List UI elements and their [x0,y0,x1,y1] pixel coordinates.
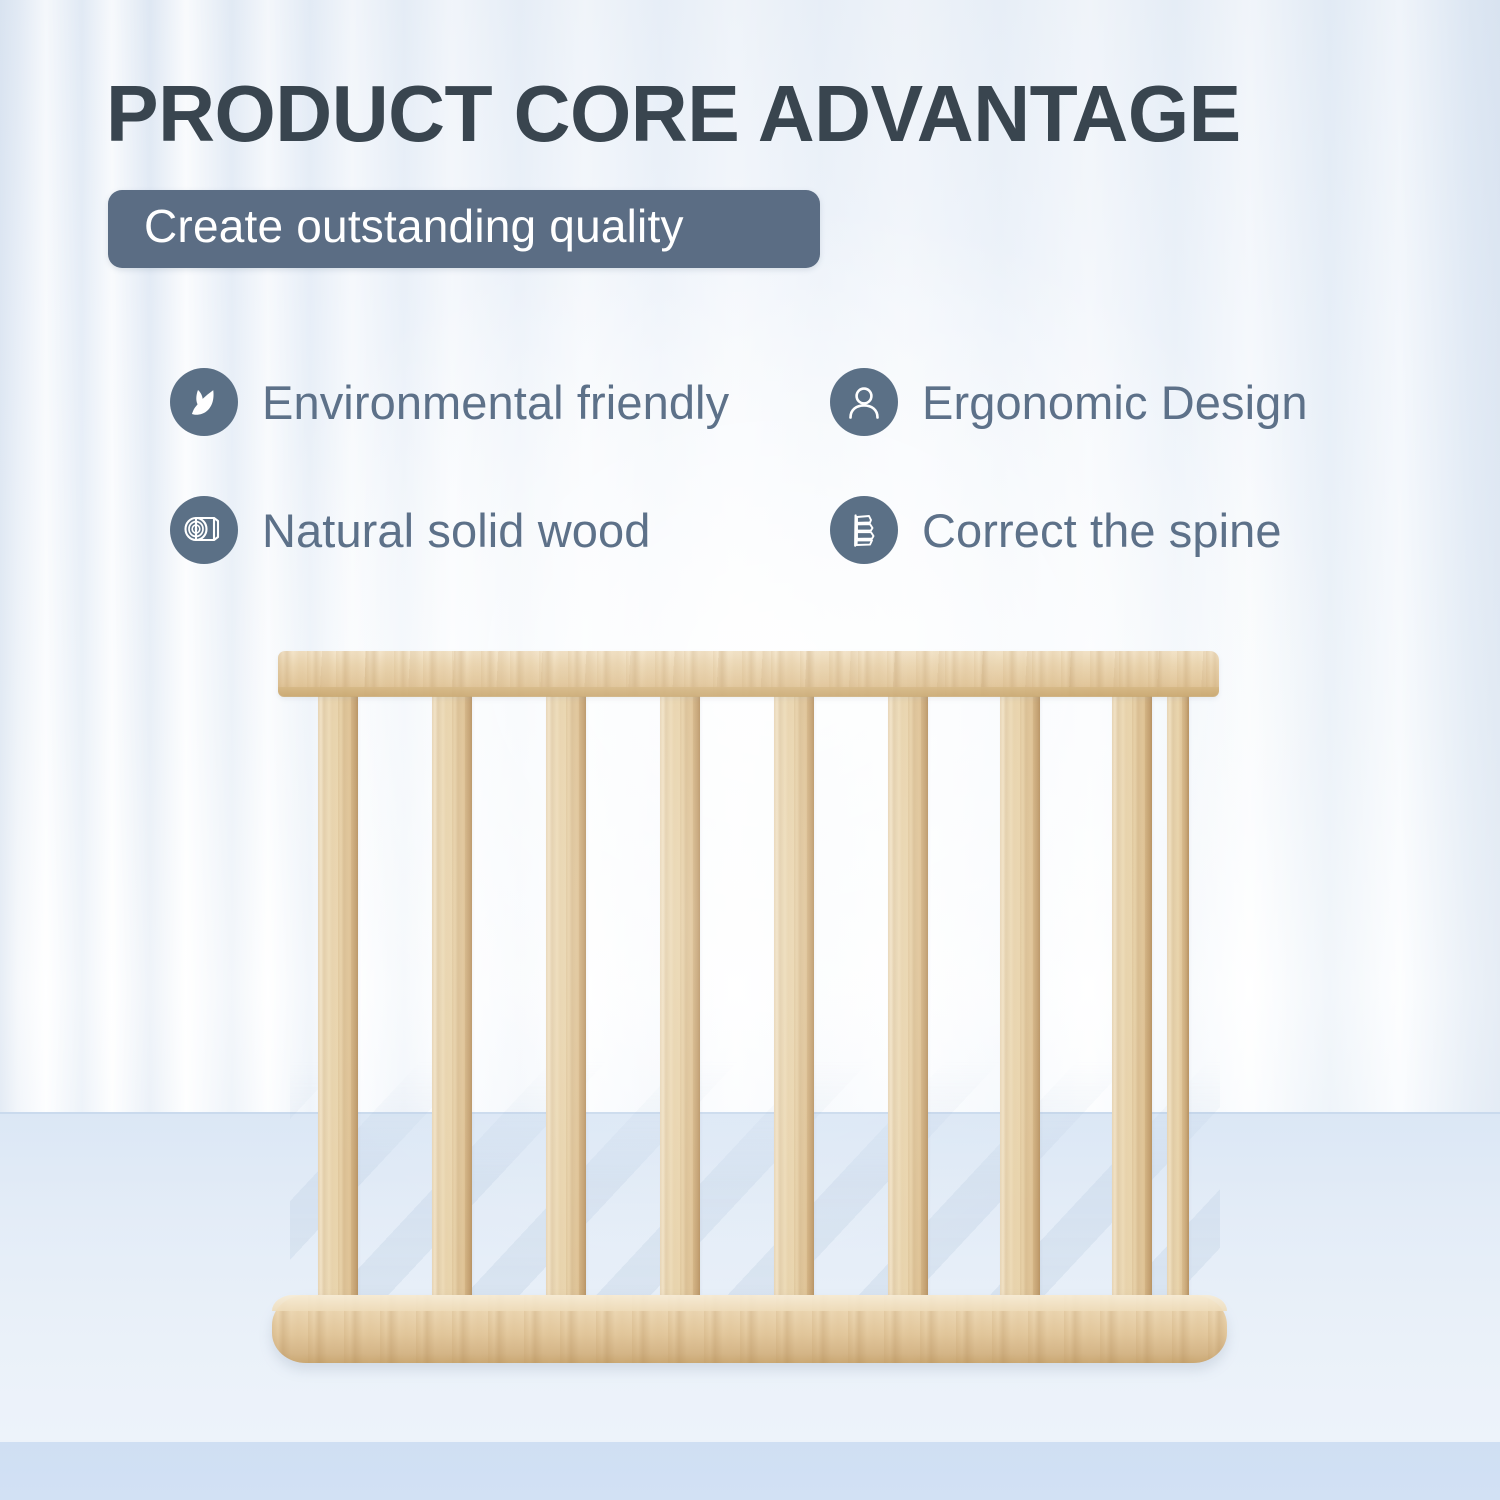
subtitle-badge-label: Create outstanding quality [144,203,684,249]
subtitle-badge: Create outstanding quality [108,190,820,268]
spine-icon [830,496,898,564]
log-icon [170,496,238,564]
product-top-rail [278,651,1219,696]
floor-surface [0,1112,1500,1442]
product-top-rail-edge [278,687,1219,697]
feature-item-solid-wood: Natural solid wood [170,466,830,594]
feature-item-environmental: Environmental friendly [170,338,830,466]
floor-horizon-line [0,1112,1500,1114]
leaf-icon [170,368,238,436]
feature-label: Correct the spine [922,507,1282,554]
product-feature-banner: PRODUCT CORE ADVANTAGE Create outstandin… [0,0,1500,1500]
feature-list: Environmental friendly Ergonomic Design [170,338,1360,594]
feature-label: Natural solid wood [262,507,650,554]
person-icon [830,368,898,436]
feature-label: Environmental friendly [262,379,729,426]
feature-item-correct-spine: Correct the spine [830,466,1360,594]
page-title: PRODUCT CORE ADVANTAGE [106,74,1377,154]
bottom-accent-band [0,1442,1500,1500]
feature-label: Ergonomic Design [922,379,1308,426]
feature-item-ergonomic: Ergonomic Design [830,338,1360,466]
